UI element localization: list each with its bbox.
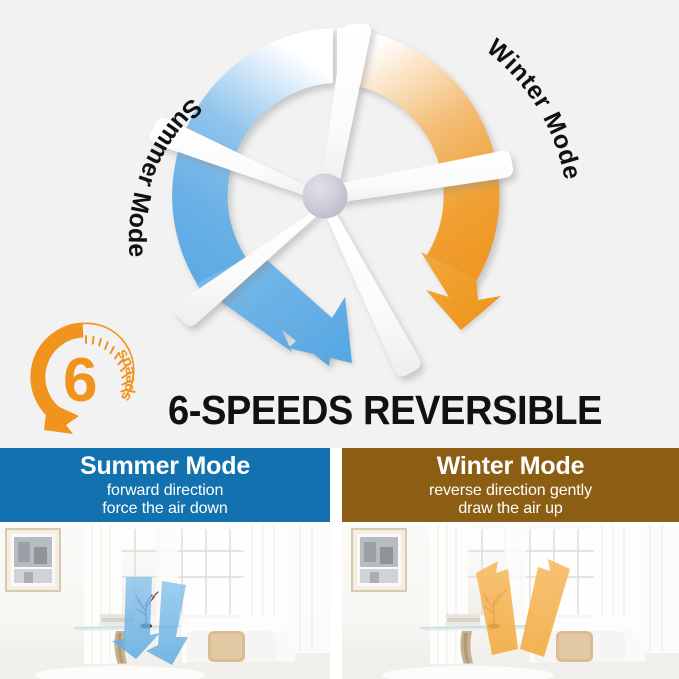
winter-banner-line1: reverse direction gently	[429, 482, 592, 500]
six-speeds-badge-svg: 6 speeds	[22, 318, 144, 436]
infographic-poster: Summer Mode Winter Mode	[0, 0, 679, 679]
framed-artwork	[352, 529, 406, 591]
white-sofa	[182, 617, 296, 667]
badge-number: 6	[63, 346, 97, 415]
summer-mode-banner: Summer Mode forward direction force the …	[0, 448, 330, 522]
mode-banners: Summer Mode forward direction force the …	[0, 448, 679, 526]
summer-banner-line2: force the air down	[102, 500, 227, 518]
summer-room-scene	[0, 525, 330, 679]
page-title: 6-SPEEDS REVERSIBLE	[166, 386, 603, 434]
winter-mode-banner: Winter Mode reverse direction gently dra…	[342, 448, 679, 522]
winter-room-photo	[342, 525, 679, 679]
summer-banner-title: Summer Mode	[80, 454, 250, 480]
books-stack	[445, 614, 481, 626]
winter-banner-line2: draw the air up	[458, 500, 562, 518]
badge-word: speeds	[113, 345, 139, 403]
winter-room-scene	[342, 525, 679, 679]
summer-room-photo	[0, 525, 330, 679]
photo-divider	[330, 525, 342, 679]
framed-artwork	[6, 529, 60, 591]
winter-banner-title: Winter Mode	[437, 454, 585, 480]
banner-divider	[330, 448, 342, 522]
fan-hub	[303, 174, 348, 219]
six-speeds-badge: 6 speeds	[22, 318, 144, 436]
room-photos	[0, 525, 679, 679]
summer-banner-line1: forward direction	[107, 482, 224, 500]
